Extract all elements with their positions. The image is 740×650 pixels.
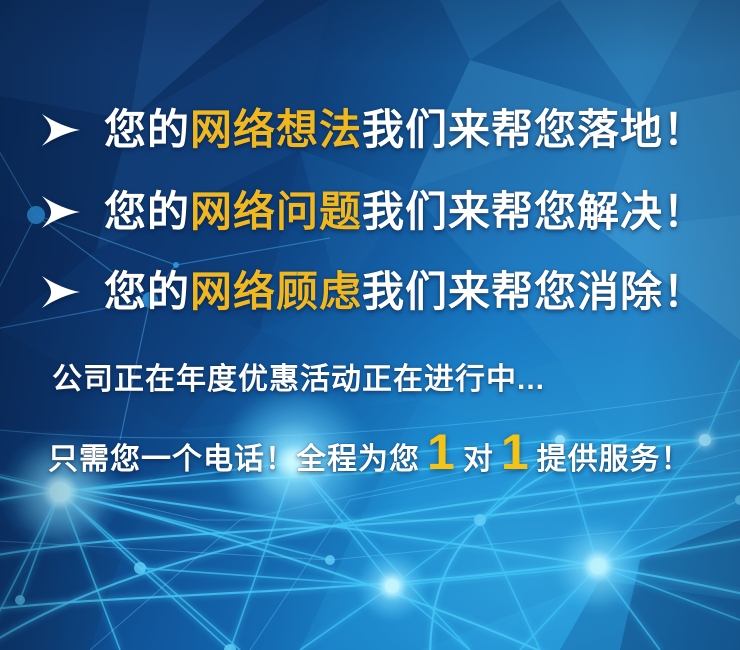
headline-prefix: 您的 (104, 106, 190, 153)
headline-suffix: 我们来帮您落地！ (362, 106, 706, 153)
promotional-banner: 您的网络想法我们来帮您落地！ 您的网络问题我们来帮您解决！ 您的网络顾虑我们来帮… (0, 0, 740, 650)
arrow-right-icon (38, 192, 82, 232)
service-subline-part-2: 对 (463, 436, 494, 484)
bullet-row: 您的网络顾虑我们来帮您消除！ (0, 266, 740, 318)
service-subline-part-1: 只需您一个电话！全程为您 (48, 436, 420, 484)
headline-suffix: 我们来帮您解决！ (362, 188, 706, 235)
arrow-right-icon (38, 272, 82, 312)
bullet-row: 您的网络问题我们来帮您解决！ (0, 186, 740, 238)
arrow-right-icon (38, 110, 82, 150)
headline-highlight: 网络问题 (190, 188, 362, 235)
headline-highlight: 网络想法 (190, 106, 362, 153)
headline-prefix: 您的 (104, 268, 190, 315)
promo-subline: 公司正在年度优惠活动正在进行中... (52, 360, 545, 400)
service-number-one-first: 1 (420, 428, 463, 476)
service-number-one-second: 1 (494, 428, 537, 476)
bullet-row: 您的网络想法我们来帮您落地！ (0, 104, 740, 156)
service-subline: 只需您一个电话！全程为您1对1提供服务！ (48, 428, 692, 484)
headline-prefix: 您的 (104, 188, 190, 235)
headline-highlight: 网络顾虑 (190, 268, 362, 315)
banner-content: 您的网络想法我们来帮您落地！ 您的网络问题我们来帮您解决！ 您的网络顾虑我们来帮… (0, 0, 740, 650)
service-subline-part-3: 提供服务！ (537, 436, 692, 484)
headline-text: 您的网络问题我们来帮您解决！ (104, 186, 706, 238)
headline-suffix: 我们来帮您消除！ (362, 268, 706, 315)
headline-text: 您的网络想法我们来帮您落地！ (104, 104, 706, 156)
headline-text: 您的网络顾虑我们来帮您消除！ (104, 266, 706, 318)
